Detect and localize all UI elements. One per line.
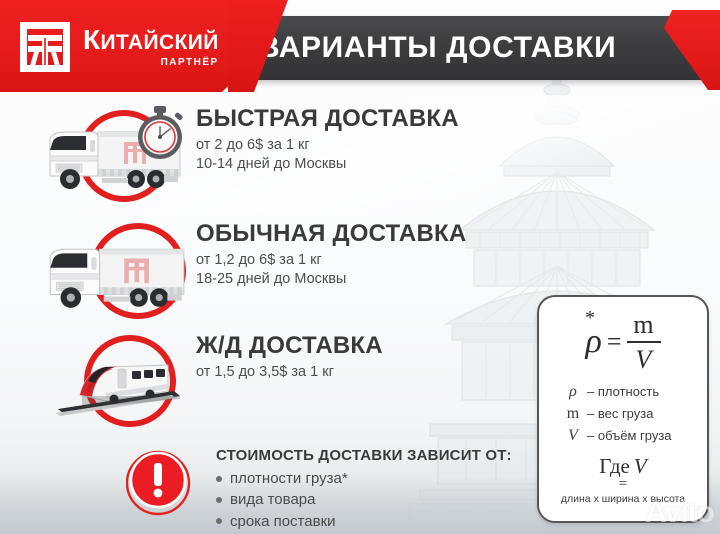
note-title: СТОИМОСТЬ ДОСТАВКИ ЗАВИСИТ ОТ: [216, 447, 512, 464]
where-equals: = [549, 480, 697, 489]
option-text-block: ОБЫЧНАЯ ДОСТАВКА от 1,2 до 6$ за 1 кг 18… [196, 219, 466, 287]
formula-numerator: m [633, 311, 653, 338]
option-price: от 1,2 до 6$ за 1 кг [196, 252, 466, 268]
formula-legend: ρ – плотность m – вес груза V – объём гр… [549, 381, 697, 447]
legend-label: – плотность [587, 384, 659, 399]
legend-symbol: m [565, 405, 581, 423]
brand-logo[interactable]: КИТАЙСКИЙ ПАРТНЁР [16, 18, 219, 76]
asterisk-marker: * [585, 307, 595, 330]
page-title: ВАРИАНТЫ ДОСТАВКИ [258, 16, 678, 80]
legend-symbol: V [565, 427, 581, 445]
list-item-label: вида товара [230, 489, 315, 510]
where-formula: длина х ширина х высота [549, 493, 697, 505]
bullet-icon [216, 518, 222, 524]
brand-text: КИТАЙСКИЙ ПАРТНЁР [83, 26, 219, 68]
list-item: вида товара [216, 489, 512, 510]
formula-denominator: V [636, 346, 652, 373]
option-duration: 18-25 дней до Москвы [196, 271, 466, 287]
list-item-label: срока поставки [230, 511, 336, 532]
train-illustration-icon [56, 355, 186, 417]
density-formula-card: * ρ = m V ρ – плотность m – вес груза V … [537, 295, 709, 523]
delivery-option-fast: БЫСТРАЯ ДОСТАВКА от 2 до 6$ за 1 кг 10-1… [26, 104, 459, 204]
option-text-block: Ж/Д ДОСТАВКА от 1,5 до 3,5$ за 1 кг [196, 331, 383, 380]
poster-header: ВАРИАНТЫ ДОСТАВКИ [0, 0, 720, 98]
bullet-icon [216, 476, 222, 482]
option-price: от 1,5 до 3,5$ за 1 кг [196, 364, 383, 380]
cost-factors-note: СТОИМОСТЬ ДОСТАВКИ ЗАВИСИТ ОТ: плотности… [126, 447, 512, 532]
list-item: плотности груза* [216, 468, 512, 489]
formula-equals: = [607, 327, 622, 357]
option-title: ОБЫЧНАЯ ДОСТАВКА [196, 221, 466, 246]
exclamation-warning-icon [126, 447, 194, 517]
density-formula: * ρ = m V [549, 305, 697, 379]
option-duration: 10-14 дней до Москвы [196, 156, 459, 172]
note-text-block: СТОИМОСТЬ ДОСТАВКИ ЗАВИСИТ ОТ: плотности… [216, 447, 512, 532]
where-symbol: V [634, 454, 647, 479]
brand-name: КИТАЙСКИЙ [83, 26, 219, 54]
delivery-option-rail: Ж/Д ДОСТАВКА от 1,5 до 3,5$ за 1 кг [26, 331, 383, 431]
brand-initial: К [83, 24, 101, 55]
train-icon [26, 331, 196, 431]
truck-icon [26, 219, 196, 319]
brand-name-rest: ИТАЙСКИЙ [101, 31, 219, 54]
chinese-gate-logo-icon [16, 18, 74, 76]
option-text-block: БЫСТРАЯ ДОСТАВКА от 2 до 6$ за 1 кг 10-1… [196, 104, 459, 172]
legend-symbol: ρ [565, 383, 581, 401]
legend-row: m – вес груза [549, 403, 697, 425]
list-item: срока поставки [216, 511, 512, 532]
legend-label: – вес груза [587, 406, 653, 421]
delivery-option-standard: ОБЫЧНАЯ ДОСТАВКА от 1,2 до 6$ за 1 кг 18… [26, 219, 466, 319]
option-title: БЫСТРАЯ ДОСТАВКА [196, 106, 459, 131]
fraction-bar [627, 341, 661, 343]
bullet-icon [216, 497, 222, 503]
option-title: Ж/Д ДОСТАВКА [196, 333, 383, 358]
legend-row: ρ – плотность [549, 381, 697, 403]
stopwatch-icon [131, 104, 189, 162]
legend-label: – объём груза [587, 428, 672, 443]
note-list: плотности груза* вида товара срока поста… [216, 468, 512, 532]
truck-with-stopwatch-icon [26, 104, 196, 204]
delivery-options-poster: ВАРИАНТЫ ДОСТАВКИ [0, 0, 720, 534]
formula-fraction: m V [627, 311, 661, 374]
brand-subtitle: ПАРТНЁР [161, 58, 219, 68]
truck-illustration-icon [40, 241, 190, 313]
legend-row: V – объём груза [549, 425, 697, 447]
list-item-label: плотности груза* [230, 468, 348, 489]
volume-definition: Где V = длина х ширина х высота [549, 454, 697, 505]
option-price: от 2 до 6$ за 1 кг [196, 137, 459, 153]
